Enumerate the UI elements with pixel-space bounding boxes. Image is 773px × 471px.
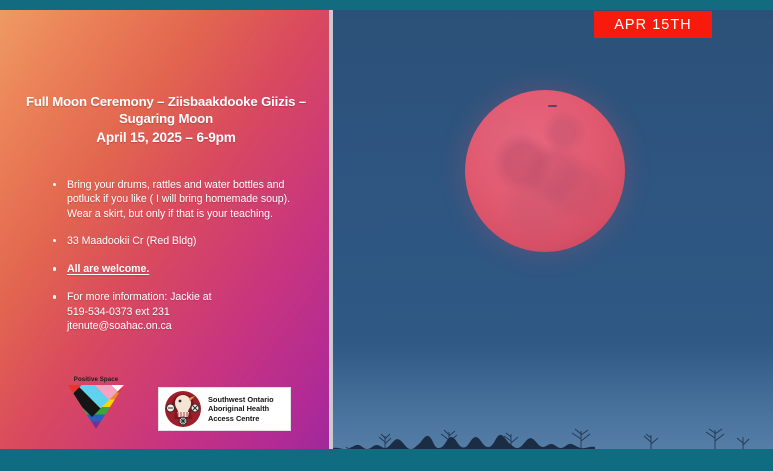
status-badge: APR 15TH [614,17,692,33]
top-accent-bar [0,0,773,10]
soahac-line-1: Southwest Ontario [208,395,274,405]
contact-email: jtenute@soahac.on.ca [67,320,172,332]
soahac-name: Southwest Ontario Aboriginal Health Acce… [208,395,274,424]
pride-triangle-icon [68,385,124,429]
contact-intro: For more information: Jackie at [67,291,211,303]
bullet-text-bring-items: Bring your drums, rattles and water bott… [67,179,290,220]
eagle-head-icon [163,390,203,428]
moon-speck [548,105,557,107]
positive-space-label: Positive Space [60,376,132,384]
bottom-accent-bar [0,449,773,471]
list-item: 33 Maadookii Cr (Red Bldg) [50,234,300,248]
headline-line-1: Full Moon Ceremony – Ziisbaakdooke [26,94,258,109]
moon-photograph [333,10,773,449]
list-item: Bring your drums, rattles and water bott… [50,178,300,221]
page-title: Full Moon Ceremony – Ziisbaakdooke Giizi… [24,94,308,147]
soahac-logo: Southwest Ontario Aboriginal Health Acce… [158,387,291,431]
soahac-line-2: Aboriginal Health [208,404,274,414]
bullet-text-address: 33 Maadookii Cr (Red Bldg) [67,235,196,247]
soahac-line-3: Access Centre [208,414,274,424]
details-list: Bring your drums, rattles and water bott… [50,178,300,346]
list-item: All are welcome. [50,262,300,276]
positive-space-logo: Positive Space [60,376,132,432]
headline-line-3: April 15, 2025 – 6-9pm [24,130,308,147]
info-panel: Full Moon Ceremony – Ziisbaakdooke Giizi… [0,10,329,449]
full-moon-image [465,90,625,252]
list-item: For more information: Jackie at 519-534-… [50,290,300,333]
event-poster: Full Moon Ceremony – Ziisbaakdooke Giizi… [0,0,773,471]
bullet-text-all-welcome: All are welcome. [67,263,149,275]
date-badge: APR 15TH [594,11,712,38]
contact-phone: 519-534-0373 ext 231 [67,306,170,318]
treeline-silhouette [333,414,773,449]
